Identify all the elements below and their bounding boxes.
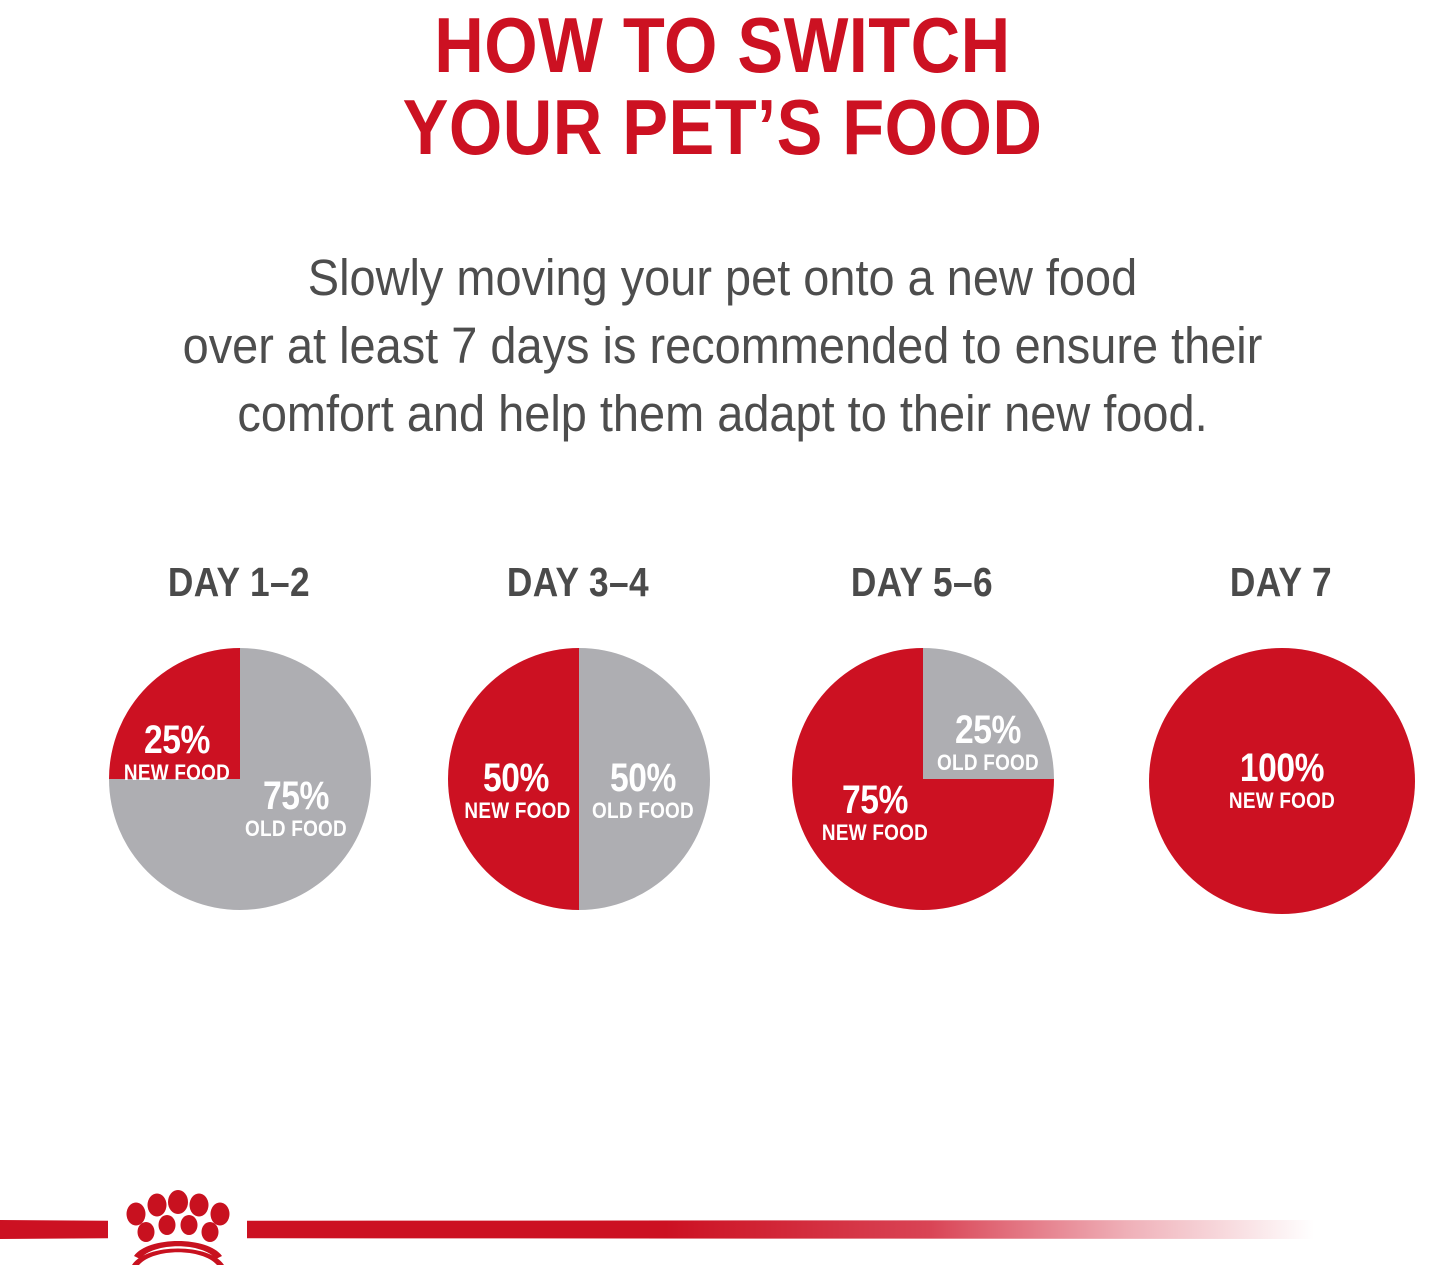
page-title-line-1: HOW TO SWITCH [87, 4, 1359, 86]
pie-graphic-2: 50% NEW FOOD 50% OLD FOOD [448, 648, 710, 910]
footer-rule-left [0, 1220, 108, 1239]
pie-svg-1 [109, 648, 371, 910]
pie-slice-new-food-1 [109, 648, 240, 779]
pie-chart-day-3-4: DAY 3–4 50% NEW FOOD 50% OLD FOOD [428, 560, 728, 940]
pie-svg-3 [792, 648, 1054, 910]
footer-rule-right [247, 1220, 1347, 1239]
day-label-2: DAY 3–4 [449, 560, 707, 604]
day-label-3: DAY 5–6 [793, 560, 1051, 604]
pie-slice-old-food-3 [923, 648, 1054, 779]
pie-graphic-1: 25% NEW FOOD 75% OLD FOOD [109, 648, 371, 910]
pie-svg-4 [1149, 648, 1415, 914]
footer-brand-band [0, 1178, 1445, 1265]
crown-svg [96, 1178, 256, 1265]
pie-graphic-4: 100% NEW FOOD [1149, 648, 1415, 914]
page-title: HOW TO SWITCH YOUR PET’S FOOD [87, 4, 1359, 168]
intro-line-2: over at least 7 days is recommended to e… [58, 312, 1387, 380]
pie-graphic-3: 25% OLD FOOD 75% NEW FOOD [792, 648, 1054, 910]
pie-chart-day-7: DAY 7 100% NEW FOOD [1131, 560, 1431, 940]
day-label-1: DAY 1–2 [110, 560, 368, 604]
pie-slice-new-food-2 [448, 648, 579, 910]
intro-line-1: Slowly moving your pet onto a new food [58, 244, 1387, 312]
pie-slice-old-food-2 [579, 648, 710, 910]
pie-chart-row: DAY 1–2 25% NEW FOOD 75% OLD FOOD DAY 3–… [0, 560, 1445, 940]
pie-chart-day-1-2: DAY 1–2 25% NEW FOOD 75% OLD FOOD [89, 560, 389, 940]
intro-line-3: comfort and help them adapt to their new… [58, 380, 1387, 448]
page-title-line-2: YOUR PET’S FOOD [87, 86, 1359, 168]
day-label-4: DAY 7 [1152, 560, 1410, 604]
pie-chart-day-5-6: DAY 5–6 25% OLD FOOD 75% NEW FOOD [772, 560, 1072, 940]
pie-slice-new-food-4 [1149, 648, 1415, 914]
intro-paragraph: Slowly moving your pet onto a new food o… [58, 244, 1387, 448]
royal-canin-crown-icon [96, 1178, 256, 1265]
pie-svg-2 [448, 648, 710, 910]
